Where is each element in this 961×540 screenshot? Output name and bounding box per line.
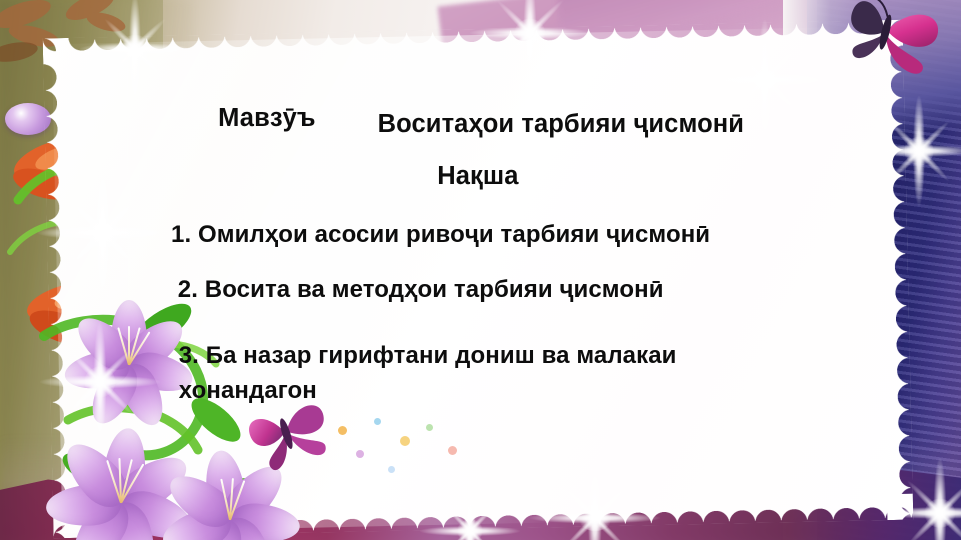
slide-text-layer: Мавзӯъ Воситаҳои тарбияи ҷисмонӣ Нақша 1… [0,0,961,540]
outline-item-1: 1. Омилҳои асосии ривоҷи тарбияи ҷисмонӣ [171,221,710,249]
outline-item-3: 3. Ба назар гирифтани дониш ва малакаи х… [179,339,794,409]
topic-label: Мавзӯъ [218,104,315,133]
outline-label: Нақша [437,162,518,191]
outline-item-2: 2. Восита ва методҳои тарбияи ҷисмонӣ [178,276,664,304]
presentation-slide: Мавзӯъ Воситаҳои тарбияи ҷисмонӣ Нақша 1… [0,0,961,540]
slide-title: Воситаҳои тарбияи ҷисмонӣ [378,110,744,139]
